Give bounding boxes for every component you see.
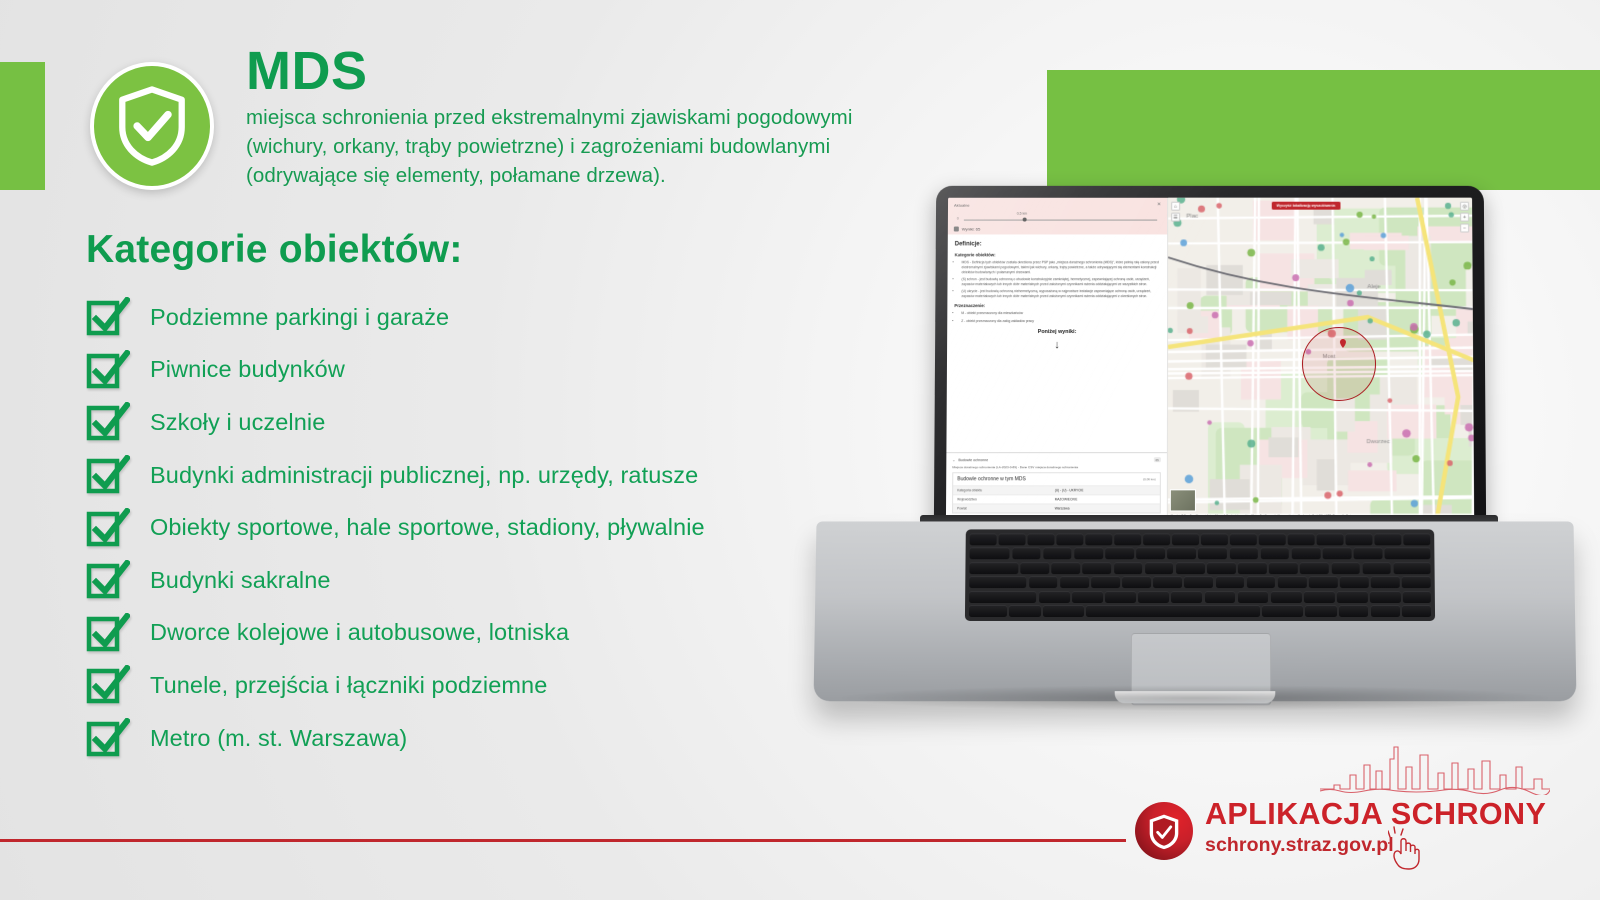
keyboard-key[interactable] <box>1136 548 1165 560</box>
row-label: Województwo <box>953 495 1051 504</box>
category-item-5: Obiekty sportowe, hale sportowe, stadion… <box>86 501 916 554</box>
category-item-4: Budynki administracji publicznej, np. ur… <box>86 449 916 502</box>
below-results-label: Poniżej wyniki: <box>954 329 1160 335</box>
results-panel: ⌄ Budowle ochronne 65 Miejsca doraźnego … <box>946 452 1167 519</box>
keyboard-key[interactable] <box>1305 605 1337 617</box>
radius-slider[interactable]: 0,5 km 0 <box>956 213 1159 222</box>
keyboard-row <box>970 548 1431 560</box>
keyboard-key[interactable] <box>1375 533 1402 545</box>
keyboard-key[interactable] <box>1404 533 1431 545</box>
results-subtitle: Miejsca doraźnego schronienia (LA-2023-0… <box>952 465 1160 469</box>
keyboard-key[interactable] <box>1292 548 1321 560</box>
keyboard-key[interactable] <box>1331 562 1360 574</box>
laptop-base <box>814 521 1577 701</box>
keyboard-key[interactable] <box>1402 605 1431 617</box>
zoom-in-icon[interactable]: + <box>1460 213 1469 222</box>
category-item-3: Szkoły i uczelnie <box>86 396 916 449</box>
table-row: Kategoria obiektu(U) - (U) - UKRYCIE <box>953 486 1160 495</box>
doc-panel[interactable]: Aktualne ✕ 0,5 km 0 Wyniki: 65 <box>946 198 1168 520</box>
keyboard-key[interactable] <box>1370 591 1401 603</box>
shield-check-icon <box>90 62 214 190</box>
keyboard-key[interactable] <box>1393 562 1430 574</box>
keyboard-key[interactable] <box>1043 548 1072 560</box>
results-count-row: Wyniki: 65 <box>954 225 1161 232</box>
keyboard-key[interactable] <box>1105 548 1134 560</box>
keyboard-key[interactable] <box>1138 591 1169 603</box>
home-icon[interactable]: ⌂ <box>1171 202 1180 211</box>
keyboard-key[interactable] <box>1060 576 1089 588</box>
checkbox-checked-icon <box>86 560 130 600</box>
keyboard-key[interactable] <box>1122 576 1151 588</box>
category-item-label: Szkoły i uczelnie <box>150 409 325 436</box>
keyboard-key[interactable] <box>1083 562 1112 574</box>
row-label: Powiat <box>953 504 1051 513</box>
arrow-down-icon: ↓ <box>954 340 1160 351</box>
keyboard-row <box>969 591 1431 603</box>
keyboard-key[interactable] <box>1238 591 1269 603</box>
keyboard-key[interactable] <box>1288 533 1315 545</box>
checkbox-checked-icon <box>86 455 130 495</box>
shield-check-icon <box>1135 802 1193 860</box>
keyboard-key[interactable] <box>969 591 1036 603</box>
keyboard-key[interactable] <box>1020 562 1049 574</box>
click-hand-icon <box>1388 825 1430 871</box>
row-value: Warszawa <box>1051 504 1160 513</box>
keyboard-key[interactable] <box>1153 576 1182 588</box>
row-value: (U) - (U) - UKRYCIE <box>1051 486 1160 495</box>
keyboard-key[interactable] <box>1143 533 1169 545</box>
keyboard-key[interactable] <box>1176 562 1205 574</box>
category-item-7: Dworce kolejowe i autobusowe, lotniska <box>86 607 916 660</box>
map-overview-inset[interactable] <box>1170 489 1196 511</box>
map-pin-icon[interactable] <box>1340 339 1346 348</box>
keyboard-key[interactable] <box>1269 562 1298 574</box>
categories-list: Podziemne parkingi i garażePiwnice budyn… <box>86 291 916 764</box>
list-icon <box>954 227 959 232</box>
table-row: PowiatWarszawa <box>953 504 1160 513</box>
checkbox-checked-icon <box>86 665 130 705</box>
keyboard-key[interactable] <box>969 576 1026 588</box>
keyboard-key[interactable] <box>1167 548 1196 560</box>
keyboard-key[interactable] <box>969 562 1018 574</box>
laptop-shadow <box>835 685 1555 711</box>
results-count-label: Wyniki: 65 <box>962 227 980 232</box>
definition-bullet: (S) schron - jest budowlą ochronną o obu… <box>961 277 1160 286</box>
purpose-bullet: Z - obiekt przeznaczony dla załóg zakład… <box>961 319 1160 324</box>
keyboard-key[interactable] <box>1385 548 1431 560</box>
purpose-bullet: M - obiekt przeznaczony dla mieszkańców <box>961 311 1160 316</box>
slider-knob[interactable] <box>1023 218 1027 222</box>
keyboard-row <box>969 562 1430 574</box>
keyboard-key[interactable] <box>1029 576 1058 588</box>
clear-search-location-button[interactable]: Wyczyść lokalizację wyszukiwania <box>1271 202 1340 210</box>
definition-bullet: MDS - Definicja tych obiektów została ok… <box>962 260 1160 274</box>
result-card-title: Budowle ochronne w tym MDS <box>957 476 1026 482</box>
poster-canvas: MDS miejsca schronienia przed ekstremaln… <box>0 0 1600 900</box>
close-icon[interactable]: ✕ <box>1157 202 1161 208</box>
keyboard-key[interactable] <box>1323 548 1352 560</box>
result-attribute-table: Kategoria obiektu(U) - (U) - UKRYCIEWoje… <box>953 485 1160 512</box>
keyboard-key[interactable] <box>1172 533 1198 545</box>
doc-panel-body: Definicje: Kategorie obiektów: MDS - Def… <box>947 234 1167 355</box>
category-item-label: Podziemne parkingi i garaże <box>150 304 449 331</box>
keyboard-key[interactable] <box>1072 591 1103 603</box>
keyboard-key[interactable] <box>1300 562 1329 574</box>
keyboard-key[interactable] <box>1317 533 1344 545</box>
search-radius-circle <box>1302 327 1376 401</box>
laptop-lid: Aktualne ✕ 0,5 km 0 Wyniki: 65 <box>934 186 1486 536</box>
keyboard-key[interactable] <box>1184 576 1213 588</box>
keyboard-row <box>969 576 1431 588</box>
keyboard-key[interactable] <box>1012 548 1041 560</box>
checkbox-checked-icon <box>86 350 130 390</box>
green-accent-bar-left <box>0 62 45 190</box>
keyboard-key[interactable] <box>1229 548 1258 560</box>
keyboard-key[interactable] <box>1304 591 1335 603</box>
keyboard-key[interactable] <box>1230 533 1256 545</box>
slider-min-label: 0 <box>957 217 959 221</box>
checkbox-checked-icon <box>86 402 130 442</box>
category-item-2: Piwnice budynków <box>86 344 916 397</box>
keyboard-key[interactable] <box>1198 548 1227 560</box>
results-section-label: Budowle ochronne <box>958 458 988 462</box>
keyboard-key[interactable] <box>1262 605 1302 617</box>
subtitle-line-1: miejsca schronienia przed ekstremalnymi … <box>246 103 1036 132</box>
chevron-down-icon[interactable]: ⌄ <box>952 458 955 462</box>
keyboard-key[interactable] <box>969 605 1007 617</box>
footer-divider <box>0 839 1126 842</box>
page-subtitle: miejsca schronienia przed ekstremalnymi … <box>246 103 1036 190</box>
checkbox-checked-icon <box>86 508 130 548</box>
keyboard-key[interactable] <box>1309 576 1338 588</box>
keyboard-key[interactable] <box>1362 562 1391 574</box>
slider-track[interactable] <box>964 220 1157 221</box>
map-panel[interactable]: Wyczyść lokalizację wyszukiwania ⌂ ☰ ◎ +… <box>1168 198 1474 520</box>
keyboard-key[interactable] <box>1201 533 1227 545</box>
keyboard-key[interactable] <box>1085 533 1111 545</box>
definitions-heading: Definicje: <box>955 241 1160 247</box>
keyboard-key[interactable] <box>1052 562 1081 574</box>
subtitle-line-2: (wichury, orkany, trąby powietrzne) i za… <box>246 132 1036 161</box>
keyboard-key[interactable] <box>1207 562 1236 574</box>
keyboard-key[interactable] <box>1205 591 1236 603</box>
keyboard-key[interactable] <box>1371 576 1400 588</box>
checkbox-checked-icon <box>86 613 130 653</box>
row-value: MAZOWIECKIE <box>1051 495 1160 504</box>
checkbox-checked-icon <box>86 718 130 758</box>
keyboard-key[interactable] <box>1354 548 1383 560</box>
keyboard-key[interactable] <box>1114 533 1140 545</box>
city-skyline-icon <box>1320 745 1550 795</box>
table-row: WojewództwoMAZOWIECKIE <box>953 495 1160 504</box>
categories-heading-doc: Kategorie obiektów: <box>955 252 1160 257</box>
brand-title: APLIKACJA SCHRONY <box>1205 797 1546 832</box>
keyboard-key[interactable] <box>999 533 1026 545</box>
purpose-heading: Przeznaczenie: <box>954 303 1160 308</box>
row-label: Kategoria obiektu <box>953 486 1051 495</box>
keyboard-key[interactable] <box>1402 576 1431 588</box>
keyboard-key[interactable] <box>1105 591 1136 603</box>
category-item-8: Tunele, przejścia i łączniki podziemne <box>86 659 916 712</box>
brand-logo[interactable]: APLIKACJA SCHRONY schrony.straz.gov.pl <box>1135 745 1555 875</box>
keyboard-key[interactable] <box>970 548 1010 560</box>
keyboard-key[interactable] <box>1278 576 1307 588</box>
definition-bullet-list: MDS - Definicja tych obiektów została ok… <box>961 260 1160 298</box>
keyboard-key[interactable] <box>1337 591 1368 603</box>
results-count-badge: 65 <box>1153 457 1160 462</box>
page-title: MDS <box>246 44 1036 99</box>
keyboard-key[interactable] <box>1403 591 1431 603</box>
purpose-bullet-list: M - obiekt przeznaczony dla mieszkańcówZ… <box>961 311 1160 323</box>
layers-icon[interactable]: ☰ <box>1171 213 1180 222</box>
result-card[interactable]: Budowle ochronne w tym MDS (0,06 km) Kat… <box>952 472 1161 513</box>
category-item-label: Budynki administracji publicznej, np. ur… <box>150 462 698 489</box>
keyboard-key[interactable] <box>1056 533 1083 545</box>
header-text-block: MDS miejsca schronienia przed ekstremaln… <box>246 44 1036 190</box>
keyboard-key[interactable] <box>1371 605 1400 617</box>
keyboard-key[interactable] <box>1259 533 1285 545</box>
keyboard-key[interactable] <box>1171 591 1202 603</box>
keyboard-key[interactable] <box>1145 562 1174 574</box>
category-item-6: Budynki sakralne <box>86 554 916 607</box>
keyboard-key[interactable] <box>1009 605 1041 617</box>
category-item-label: Obiekty sportowe, hale sportowe, stadion… <box>150 514 705 541</box>
green-accent-bar-right <box>1047 70 1600 190</box>
laptop-keyboard[interactable] <box>965 529 1435 621</box>
keyboard-key[interactable] <box>1271 591 1302 603</box>
categories-heading: Kategorie obiektów: <box>86 228 463 272</box>
checkbox-checked-icon <box>86 297 130 337</box>
keyboard-key[interactable] <box>970 533 997 545</box>
keyboard-key[interactable] <box>1346 533 1373 545</box>
definition-bullet: (U) ukrycie - jest budowlą ochronną nieh… <box>961 289 1160 298</box>
category-item-label: Dworce kolejowe i autobusowe, lotniska <box>150 619 569 646</box>
keyboard-key[interactable] <box>1238 562 1267 574</box>
keyboard-key[interactable] <box>1340 576 1369 588</box>
laptop-mockup: Aktualne ✕ 0,5 km 0 Wyniki: 65 <box>815 185 1575 745</box>
keyboard-key[interactable] <box>1043 605 1084 617</box>
laptop-screen: Aktualne ✕ 0,5 km 0 Wyniki: 65 <box>946 198 1474 520</box>
keyboard-key[interactable] <box>1074 548 1103 560</box>
category-item-label: Piwnice budynków <box>150 356 345 383</box>
category-item-1: Podziemne parkingi i garaże <box>86 291 916 344</box>
keyboard-key[interactable] <box>1028 533 1055 545</box>
category-item-9: Metro (m. st. Warszawa) <box>86 712 916 765</box>
doc-tab-label[interactable]: Aktualne <box>954 202 970 207</box>
results-panel-header[interactable]: ⌄ Budowle ochronne 65 <box>952 457 1160 462</box>
keyboard-key[interactable] <box>1039 591 1070 603</box>
category-item-label: Tunele, przejścia i łączniki podziemne <box>150 672 547 699</box>
category-item-label: Metro (m. st. Warszawa) <box>150 725 407 752</box>
keyboard-key[interactable] <box>1339 605 1368 617</box>
keyboard-row <box>969 605 1431 617</box>
keyboard-key[interactable] <box>1261 548 1290 560</box>
category-item-label: Budynki sakralne <box>150 567 331 594</box>
keyboard-key[interactable] <box>1091 576 1120 588</box>
zoom-out-icon[interactable]: − <box>1460 224 1469 233</box>
slider-value-label: 0,5 km <box>1017 212 1027 216</box>
keyboard-row <box>970 533 1431 545</box>
result-card-distance: (0,06 km) <box>1143 477 1156 481</box>
keyboard-key[interactable] <box>1247 576 1276 588</box>
keyboard-key[interactable] <box>1086 605 1259 617</box>
brand-url: schrony.straz.gov.pl <box>1205 834 1394 857</box>
doc-panel-header: Aktualne ✕ 0,5 km 0 Wyniki: 65 <box>948 198 1167 235</box>
keyboard-key[interactable] <box>1114 562 1143 574</box>
locate-icon[interactable]: ◎ <box>1460 202 1469 211</box>
keyboard-key[interactable] <box>1216 576 1245 588</box>
